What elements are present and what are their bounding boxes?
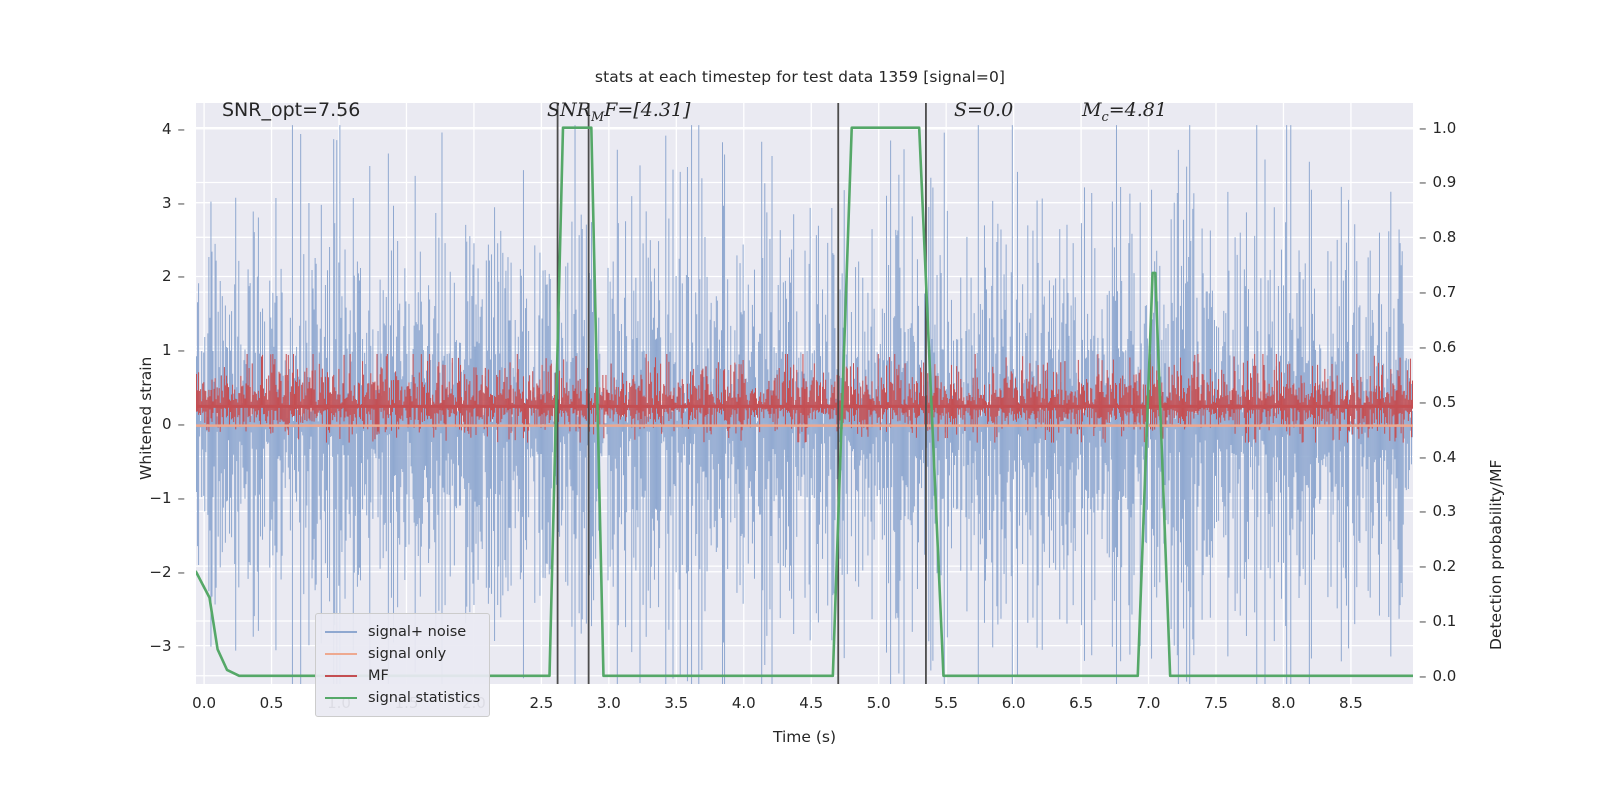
figure-canvas: stats at each timestep for test data 135… bbox=[0, 0, 1600, 800]
y-tick-left: 2– bbox=[5, 267, 185, 285]
annotation-snr-opt: SNR_opt=7.56 bbox=[222, 99, 360, 121]
y-tick-right: –0.7 bbox=[1419, 283, 1599, 301]
y-tick-left: 1– bbox=[5, 341, 185, 359]
y-tick-right: –0.3 bbox=[1419, 502, 1599, 520]
y-tick-right: –0.5 bbox=[1419, 393, 1599, 411]
legend[interactable]: signal+ noisesignal onlyMFsignal statist… bbox=[315, 613, 490, 717]
legend-swatch-icon bbox=[325, 697, 357, 699]
legend-label: signal+ noise bbox=[368, 624, 466, 640]
annotation-chirp-mass: Mc=4.81 bbox=[1082, 99, 1167, 125]
y-tick-left: 0– bbox=[5, 415, 185, 433]
y-tick-right: –1.0 bbox=[1419, 119, 1599, 137]
legend-item-0[interactable]: signal+ noise bbox=[325, 621, 480, 643]
x-tick: 8.5 bbox=[1311, 694, 1391, 712]
legend-label: signal only bbox=[368, 646, 446, 662]
y-tick-right: –0.4 bbox=[1419, 448, 1599, 466]
y-tick-left: −3– bbox=[5, 637, 185, 655]
legend-item-2[interactable]: MF bbox=[325, 665, 480, 687]
series-canvas bbox=[196, 103, 1413, 684]
y-tick-right: –0.8 bbox=[1419, 228, 1599, 246]
y-tick-right: –0.0 bbox=[1419, 667, 1599, 685]
y-tick-right: –0.1 bbox=[1419, 612, 1599, 630]
legend-swatch-icon bbox=[325, 653, 357, 655]
annotation-snr-mf: SNRMF=[4.31] bbox=[547, 99, 690, 125]
legend-swatch-icon bbox=[325, 631, 357, 633]
y-tick-right: –0.9 bbox=[1419, 173, 1599, 191]
chart-title: stats at each timestep for test data 135… bbox=[0, 68, 1600, 86]
y-tick-right: –0.6 bbox=[1419, 338, 1599, 356]
y-tick-left: 4– bbox=[5, 120, 185, 138]
x-axis-label: Time (s) bbox=[196, 728, 1413, 746]
legend-swatch-icon bbox=[325, 675, 357, 677]
legend-label: MF bbox=[368, 668, 389, 684]
plot-area bbox=[196, 103, 1413, 684]
y-tick-right: –0.2 bbox=[1419, 557, 1599, 575]
y-tick-left: −2– bbox=[5, 563, 185, 581]
legend-item-3[interactable]: signal statistics bbox=[325, 687, 480, 709]
y-tick-left: 3– bbox=[5, 194, 185, 212]
y-tick-left: −1– bbox=[5, 489, 185, 507]
annotation-s-stat: S=0.0 bbox=[954, 99, 1013, 121]
legend-label: signal statistics bbox=[368, 690, 480, 706]
legend-item-1[interactable]: signal only bbox=[325, 643, 480, 665]
